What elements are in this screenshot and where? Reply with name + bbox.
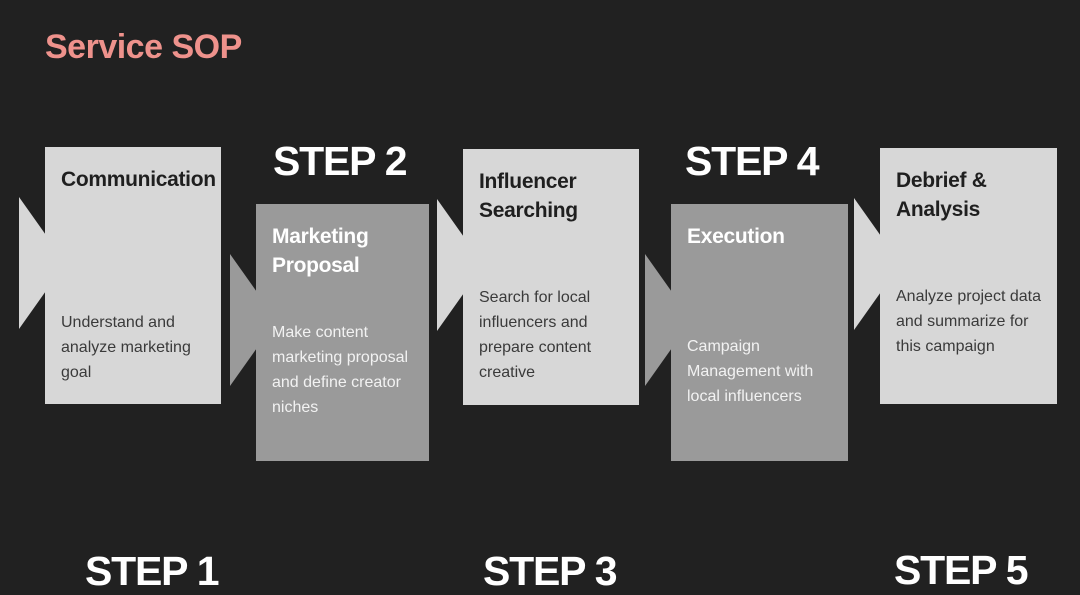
step-label-4: STEP 4 [685, 137, 818, 185]
step-label-3: STEP 3 [483, 547, 616, 595]
step-body-2: Make content marketing proposal and defi… [272, 320, 419, 420]
step-label-1: STEP 1 [85, 547, 218, 595]
step-heading-1: Communication [61, 165, 205, 194]
slide-canvas: Service SOP Communication Understand and… [0, 0, 1080, 475]
step-body-3: Search for local influencers and prepare… [479, 285, 629, 385]
step-card-3[interactable]: Influencer Searching Search for local in… [463, 149, 639, 405]
process-flow-diagram: Communication Understand and analyze mar… [0, 0, 1080, 475]
step-card-1[interactable]: Communication Understand and analyze mar… [45, 147, 221, 404]
step-body-4: Campaign Management with local influence… [687, 334, 838, 409]
step-card-4[interactable]: Execution Campaign Management with local… [671, 204, 848, 461]
step-card-2[interactable]: Marketing Proposal Make content marketin… [256, 204, 429, 461]
step-body-1: Understand and analyze marketing goal [61, 310, 211, 385]
step-body-5: Analyze project data and summarize for t… [896, 284, 1047, 359]
step-card-5[interactable]: Debrief & Analysis Analyze project data … [880, 148, 1057, 404]
step-heading-3: Influencer Searching [479, 167, 623, 225]
step-heading-2: Marketing Proposal [272, 222, 413, 280]
step-label-5: STEP 5 [894, 546, 1027, 594]
step-label-2: STEP 2 [273, 137, 406, 185]
step-heading-4: Execution [687, 222, 832, 251]
step-heading-5: Debrief & Analysis [896, 166, 1041, 224]
